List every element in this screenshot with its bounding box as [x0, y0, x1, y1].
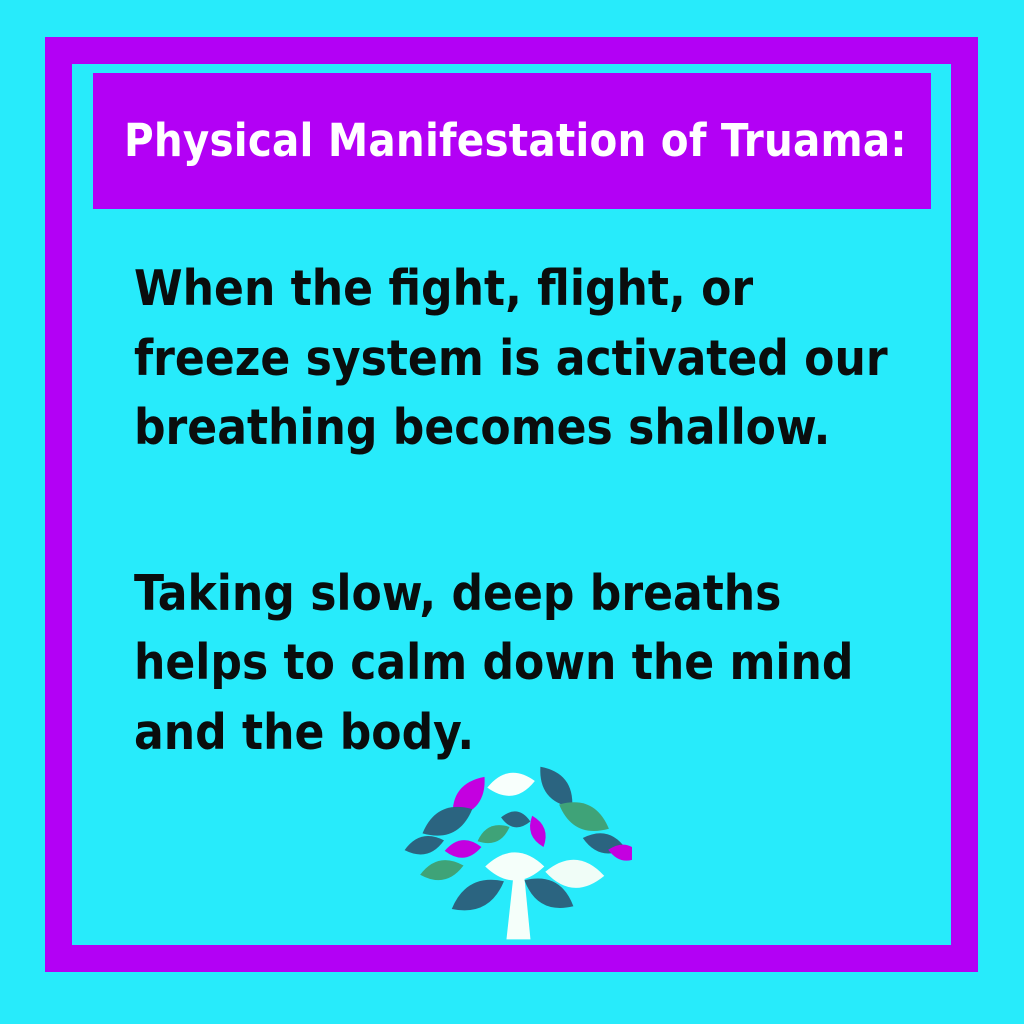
tree-leaf [485, 770, 536, 799]
tree-logo [392, 754, 632, 954]
body-copy: When the fight, flight, or freeze system… [134, 254, 924, 767]
tree-leaf [525, 813, 550, 849]
tree-leaf [485, 852, 544, 880]
outer-purple-frame: Physical Manifestation of Truama: When t… [45, 37, 978, 972]
paragraph-1: When the fight, flight, or freeze system… [134, 254, 924, 463]
title-banner: Physical Manifestation of Truama: [93, 73, 931, 209]
tree-leaf [474, 820, 512, 849]
tree-leaf [446, 870, 510, 919]
poster-canvas: Physical Manifestation of Truama: When t… [0, 0, 1024, 1024]
tree-leaf [443, 838, 482, 859]
page-title: Physical Manifestation of Truama: [124, 117, 907, 164]
tree-leaf [402, 832, 446, 859]
paragraph-2: Taking slow, deep breaths helps to calm … [134, 559, 924, 768]
tree-leaf [418, 856, 465, 884]
logo-container [72, 754, 951, 954]
inner-content-area: Physical Manifestation of Truama: When t… [72, 64, 951, 945]
